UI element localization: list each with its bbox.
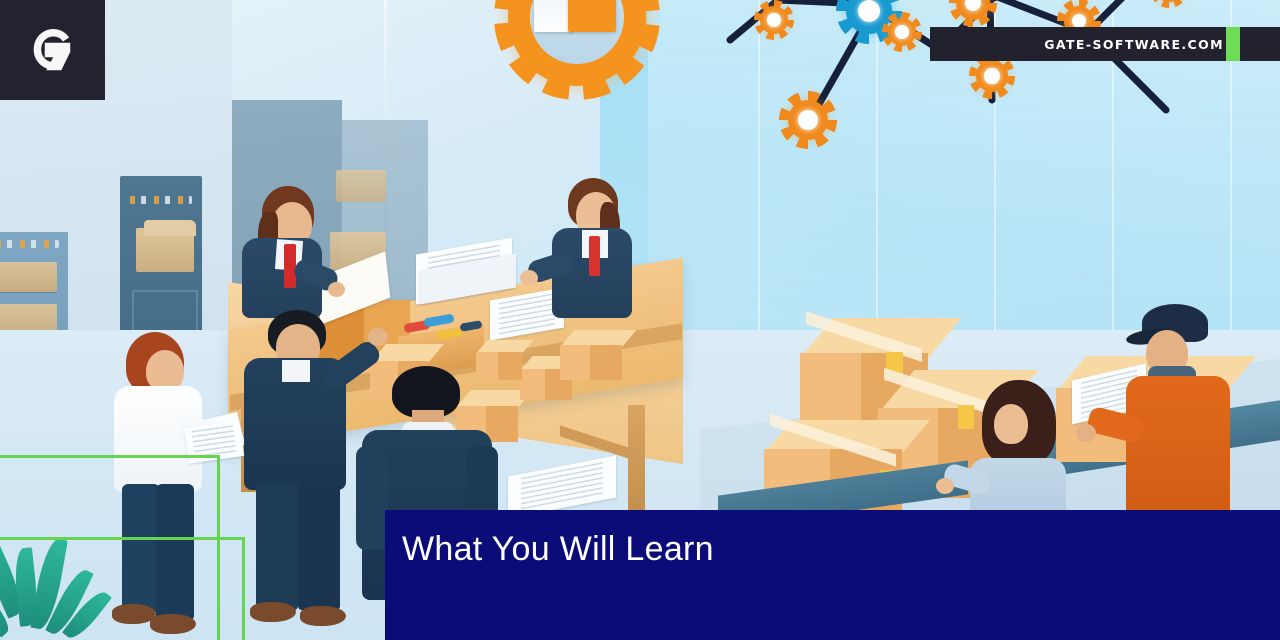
hand — [936, 478, 954, 494]
person-woman-light-blue-shirt — [962, 380, 1072, 530]
hand — [328, 282, 345, 297]
box-right-face — [590, 345, 622, 380]
person-man-navy-suit-left — [238, 310, 362, 640]
head — [994, 404, 1028, 444]
necktie — [589, 236, 600, 276]
shoe — [250, 602, 296, 622]
network-node-gear — [888, 18, 916, 46]
brand-logo-badge[interactable] — [0, 0, 105, 100]
hand — [1076, 424, 1096, 442]
box-left-face — [520, 369, 545, 400]
hand — [520, 270, 538, 286]
network-node-gear — [976, 60, 1008, 92]
green-corner-frame-inner-top — [0, 537, 245, 540]
green-corner-frame-outer-top — [0, 455, 220, 458]
leg — [256, 482, 298, 610]
shoe — [150, 614, 196, 634]
person-woman-ponytail-navy-suit — [228, 186, 336, 326]
leg — [156, 484, 194, 620]
document-gear-emblem — [508, 0, 646, 86]
green-corner-frame-outer-right — [217, 455, 220, 640]
page-title: What You Will Learn — [385, 510, 714, 569]
torso-shirt — [1126, 376, 1230, 524]
website-url-bar[interactable]: GATE-SOFTWARE.COM — [930, 27, 1280, 61]
box-left-face — [560, 345, 590, 380]
network-node-gear — [956, 0, 990, 20]
necktie — [284, 244, 296, 288]
gate-g-logo-icon — [25, 22, 81, 78]
table-leg — [628, 405, 645, 523]
green-corner-frame-inner-right — [242, 537, 245, 640]
slide-root: GATE-SOFTWARE.COM What You Will Learn — [0, 0, 1280, 640]
rack-folder — [144, 220, 196, 236]
rack-drawer — [0, 262, 57, 292]
network-node-gear — [760, 6, 788, 34]
rack-folder — [336, 170, 386, 202]
arm — [356, 446, 388, 550]
title-banner: What You Will Learn — [385, 510, 1280, 640]
network-node-gear — [1156, 0, 1182, 2]
person-woman-red-tie-navy-suit — [534, 178, 646, 330]
person-worker-orange-shirt-cap — [1120, 304, 1240, 524]
emblem-folder-tab — [568, 0, 616, 32]
shirt-collar — [282, 360, 310, 382]
shoe — [300, 606, 346, 626]
leg — [298, 482, 340, 610]
rack-status-leds — [130, 196, 192, 204]
network-node-gear — [788, 100, 828, 140]
rack-status-leds — [0, 240, 59, 248]
small-box — [560, 330, 622, 380]
box-right-face — [498, 352, 522, 380]
website-url-text: GATE-SOFTWARE.COM — [1044, 37, 1224, 52]
url-bar-accent — [1226, 27, 1240, 61]
hand — [368, 328, 388, 346]
